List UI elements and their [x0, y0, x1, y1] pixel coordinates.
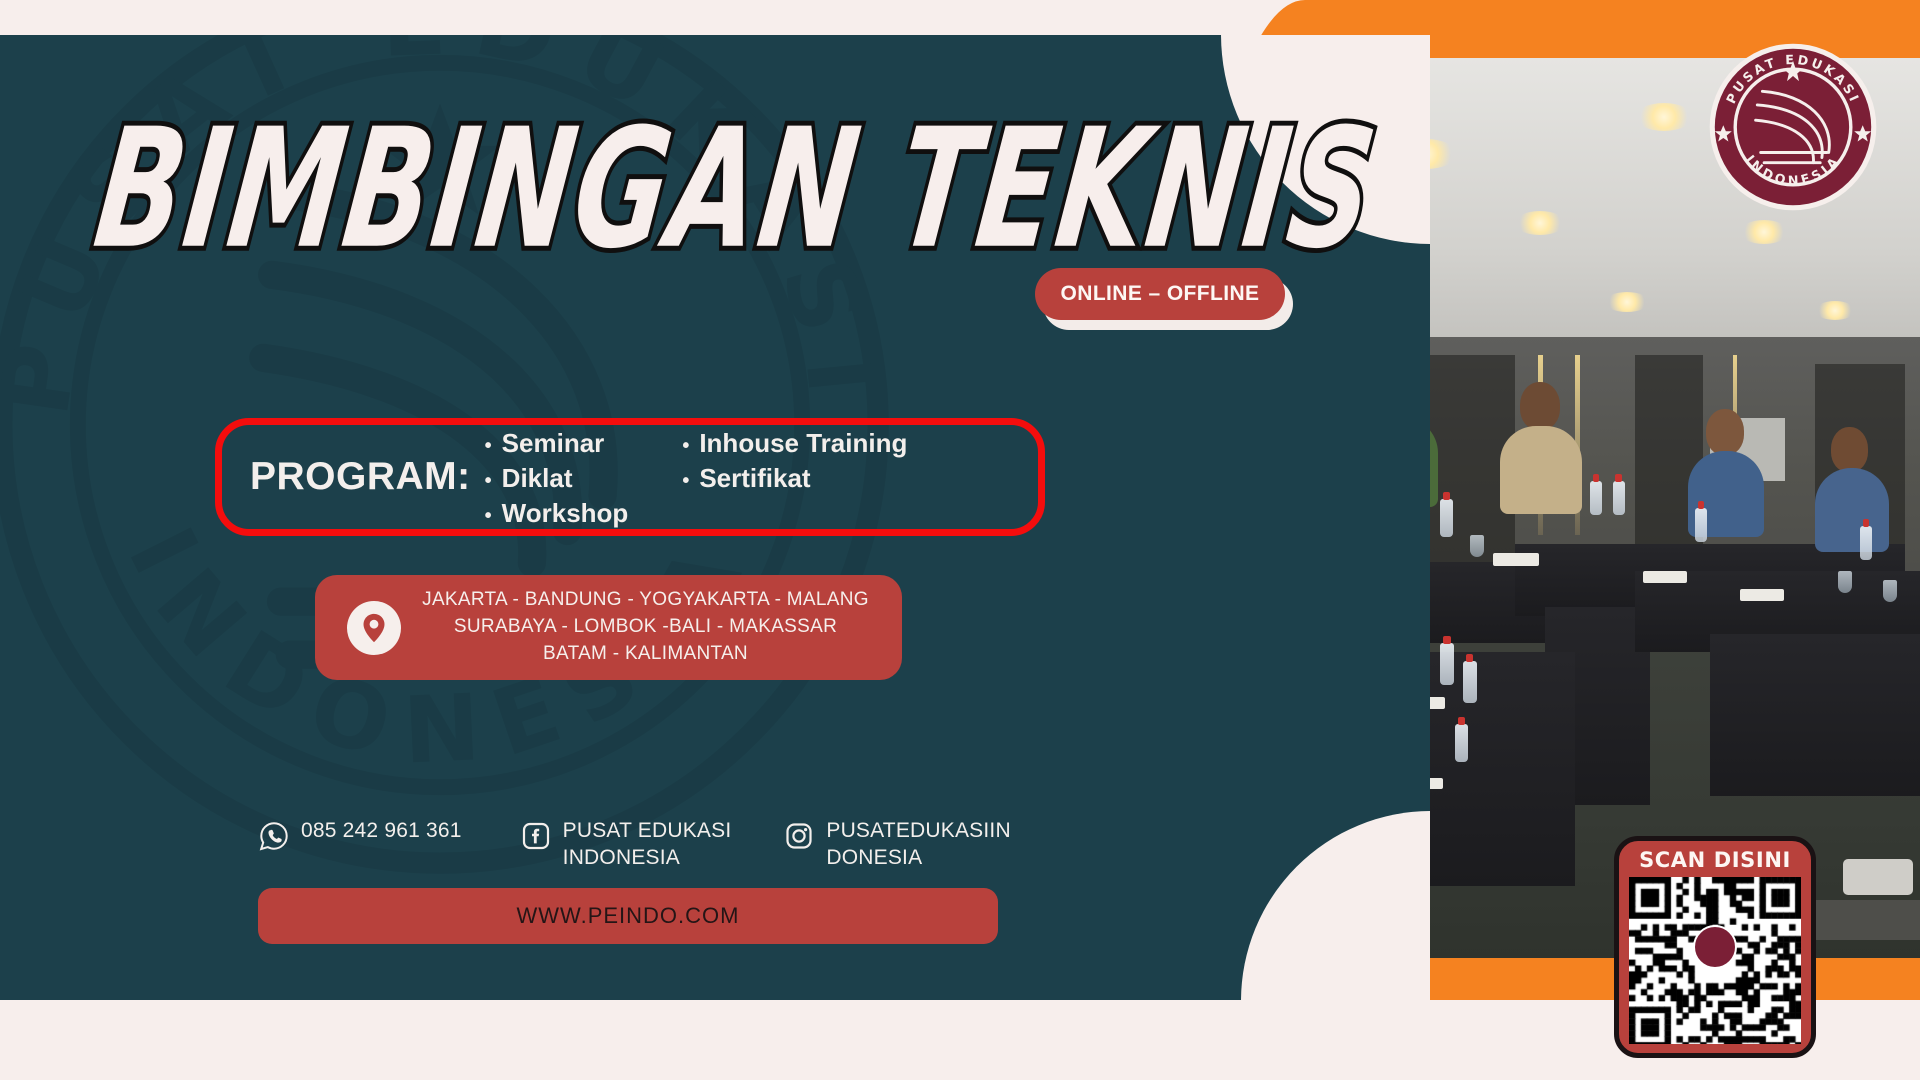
program-item: • Sertifikat [682, 463, 907, 494]
panel-bottom-curve [0, 1000, 1240, 1060]
website-bar[interactable]: WWW.PEINDO.COM [258, 888, 998, 944]
map-pin-icon [347, 601, 401, 655]
program-item-label: Sertifikat [699, 463, 810, 494]
badge-label: ONLINE – OFFLINE [1035, 268, 1285, 320]
panel-notch-bottom-right [1241, 811, 1430, 1000]
location-line: BATAM - KALIMANTAN [415, 641, 876, 668]
qr-title: SCAN DISINI [1639, 848, 1791, 872]
brand-logo: PUSAT EDUKASI INDONESIA [1708, 42, 1878, 212]
locations-box: JAKARTA - BANDUNG - YOGYAKARTA - MALANG … [315, 575, 902, 680]
bullet-icon: • [485, 506, 492, 526]
location-line: SURABAYA - LOMBOK -BALI - MAKASSAR [415, 614, 876, 641]
qr-code[interactable] [1629, 877, 1801, 1044]
program-item: • Diklat [485, 463, 629, 494]
contact-whatsapp[interactable]: 085 242 961 361 [258, 818, 462, 852]
program-item: • Workshop [485, 498, 629, 529]
contact-row: 085 242 961 361 PUSAT EDUKASI INDONESIA … [258, 818, 1011, 872]
program-column-2: • Inhouse Training • Sertifikat [682, 428, 907, 494]
page-title: BIMBINGAN TEKNIS [88, 108, 1384, 273]
program-item-label: Inhouse Training [699, 428, 907, 459]
contact-instagram[interactable]: PUSATEDUKASIIN DONESIA [783, 818, 1010, 872]
poster-canvas: PUSAT EDUKASI INDONESIA BIMBINGAN TEKNIS [0, 0, 1920, 1080]
whatsapp-number: 085 242 961 361 [301, 818, 462, 845]
contact-facebook[interactable]: PUSAT EDUKASI INDONESIA [520, 818, 732, 872]
program-box: PROGRAM: • Seminar • Diklat • Workshop • [215, 418, 1045, 536]
program-item: • Inhouse Training [682, 428, 907, 459]
program-column-1: • Seminar • Diklat • Workshop [485, 428, 629, 529]
qr-scan-card[interactable]: SCAN DISINI [1614, 836, 1816, 1058]
instagram-name: PUSATEDUKASIIN DONESIA [826, 818, 1010, 872]
program-item: • Seminar [485, 428, 629, 459]
facebook-icon [520, 820, 552, 852]
location-line: JAKARTA - BANDUNG - YOGYAKARTA - MALANG [415, 587, 876, 614]
program-item-label: Diklat [502, 463, 573, 494]
program-item-label: Workshop [502, 498, 629, 529]
program-label: PROGRAM: [250, 455, 471, 499]
qr-center-logo [1693, 925, 1737, 969]
facebook-name: PUSAT EDUKASI INDONESIA [563, 818, 732, 872]
bullet-icon: • [485, 436, 492, 456]
bullet-icon: • [485, 471, 492, 491]
website-label: WWW.PEINDO.COM [517, 903, 740, 929]
instagram-icon [783, 820, 815, 852]
bullet-icon: • [682, 471, 689, 491]
whatsapp-icon [258, 820, 290, 852]
bullet-icon: • [682, 436, 689, 456]
program-item-label: Seminar [502, 428, 605, 459]
